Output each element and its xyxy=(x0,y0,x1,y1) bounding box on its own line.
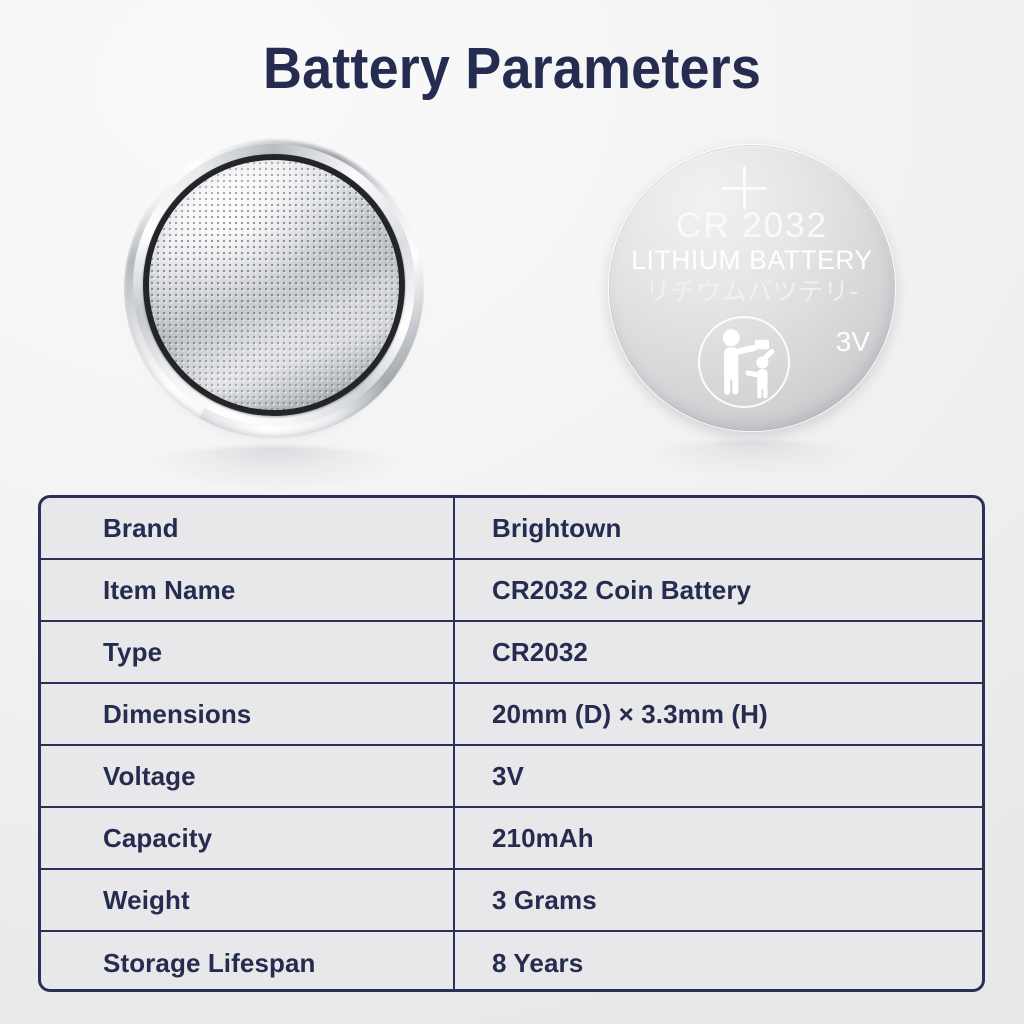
page-title: Battery Parameters xyxy=(36,34,988,104)
table-row: Voltage 3V xyxy=(41,746,982,808)
keep-away-from-children-icon xyxy=(698,316,790,408)
table-row: Weight 3 Grams xyxy=(41,870,982,932)
spec-value: 210mAh xyxy=(455,808,982,868)
spec-value: 3V xyxy=(455,746,982,806)
battery-product-images: CR 2032 LITHIUM BATTERY リチウムバツテリ- xyxy=(0,110,1024,490)
spec-label: Weight xyxy=(41,870,455,930)
spec-label: Type xyxy=(41,622,455,682)
table-row: Brand Brightown xyxy=(41,498,982,560)
coin-dimpled-terminal-surface xyxy=(149,160,399,410)
spec-label: Item Name xyxy=(41,560,455,620)
spec-label: Capacity xyxy=(41,808,455,868)
spec-value: CR2032 Coin Battery xyxy=(455,560,982,620)
spec-value: 8 Years xyxy=(455,932,982,992)
coin-cell-printed-face-image: CR 2032 LITHIUM BATTERY リチウムバツテリ- xyxy=(608,144,896,432)
table-row: Type CR2032 xyxy=(41,622,982,684)
spec-label: Storage Lifespan xyxy=(41,932,455,992)
spec-value: Brightown xyxy=(455,498,982,558)
coin-model-text: CR 2032 xyxy=(608,206,896,246)
table-row: Dimensions 20mm (D) × 3.3mm (H) xyxy=(41,684,982,746)
spec-value: CR2032 xyxy=(455,622,982,682)
spec-label: Brand xyxy=(41,498,455,558)
coin-cell-negative-face-image xyxy=(124,138,424,438)
coin-right-reflection xyxy=(650,440,856,474)
spec-value: 20mm (D) × 3.3mm (H) xyxy=(455,684,982,744)
coin-chemistry-text: LITHIUM BATTERY xyxy=(611,244,893,276)
coin-left-reflection xyxy=(150,446,400,487)
battery-parameters-table: Brand Brightown Item Name CR2032 Coin Ba… xyxy=(38,495,985,992)
table-row: Item Name CR2032 Coin Battery xyxy=(41,560,982,622)
coin-voltage-text: 3V xyxy=(836,326,870,358)
plus-polarity-icon xyxy=(722,166,766,210)
spec-label: Dimensions xyxy=(41,684,455,744)
product-spec-page: Battery Parameters CR 2032 LITHIUM BATTE… xyxy=(0,0,1024,1024)
table-row: Storage Lifespan 8 Years xyxy=(41,932,982,992)
table-row: Capacity 210mAh xyxy=(41,808,982,870)
coin-chemistry-text-japanese: リチウムバツテリ- xyxy=(608,277,896,307)
spec-value: 3 Grams xyxy=(455,870,982,930)
coin-printed-markings: CR 2032 LITHIUM BATTERY リチウムバツテリ- xyxy=(608,144,896,432)
spec-label: Voltage xyxy=(41,746,455,806)
